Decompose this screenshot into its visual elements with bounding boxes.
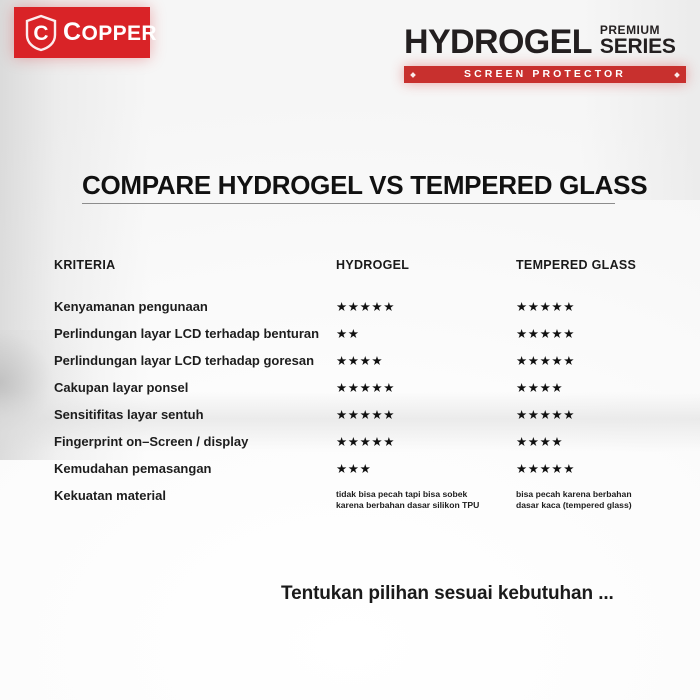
table-row: Perlindungan layar LCD terhadap benturan… — [54, 327, 674, 354]
screen-protector-bar: SCREEN PROTECTOR — [404, 66, 686, 83]
row-criteria-label: Perlindungan layar LCD terhadap benturan — [54, 327, 336, 341]
row-criteria-label: Kemudahan pemasangan — [54, 462, 336, 476]
row-criteria-label: Kekuatan material — [54, 489, 336, 503]
row-criteria-label: Sensitifitas layar sentuh — [54, 408, 336, 422]
brand-series-text: SERIES — [600, 36, 676, 57]
poster-canvas: C COPPER HYDROGEL PREMIUM SERIES SCREEN … — [0, 0, 700, 700]
row-hydrogel-rating: ★★★★★ — [336, 300, 516, 314]
comparison-table: KRITERIA HYDROGEL TEMPERED GLASS Kenyama… — [54, 258, 674, 511]
screen-protector-text: SCREEN PROTECTOR — [464, 69, 626, 80]
logo-wordmark-rest: OPPER — [81, 22, 157, 45]
logo-wordmark-initial: C — [63, 18, 81, 46]
material-note-line: tidak bisa pecah tapi bisa sobek — [336, 489, 516, 500]
row-criteria-label: Perlindungan layar LCD terhadap goresan — [54, 354, 336, 368]
table-row: Sensitifitas layar sentuh ★★★★★ ★★★★★ — [54, 408, 674, 435]
diamond-dot-right-icon — [674, 72, 680, 78]
table-body: Kenyamanan pengunaan ★★★★★ ★★★★★ Perlind… — [54, 300, 674, 511]
shield-icon: C — [24, 14, 58, 52]
page-title: COMPARE HYDROGEL VS TEMPERED GLASS — [82, 170, 618, 201]
logo-wordmark: COPPER — [63, 20, 157, 45]
row-criteria-label: Kenyamanan pengunaan — [54, 300, 336, 314]
header-tempered-glass: TEMPERED GLASS — [516, 258, 674, 272]
row-tempered-rating: ★★★★★ — [516, 354, 674, 368]
hydrogel-banner: HYDROGEL PREMIUM SERIES SCREEN PROTECTOR — [404, 14, 686, 90]
table-row-material: Kekuatan material tidak bisa pecah tapi … — [54, 489, 674, 511]
row-tempered-rating: ★★★★★ — [516, 300, 674, 314]
row-tempered-material-note: bisa pecah karena berbahan dasar kaca (t… — [516, 489, 674, 511]
row-hydrogel-rating: ★★★★★ — [336, 408, 516, 422]
row-tempered-rating: ★★★★★ — [516, 408, 674, 422]
table-row: Cakupan layar ponsel ★★★★★ ★★★★ — [54, 381, 674, 408]
brand-series-block: PREMIUM SERIES — [600, 24, 676, 58]
row-hydrogel-rating: ★★★★★ — [336, 381, 516, 395]
header-criteria: KRITERIA — [54, 258, 336, 272]
row-hydrogel-rating: ★★★ — [336, 462, 516, 476]
footer-tagline: Tentukan pilihan sesuai kebutuhan ... — [281, 583, 614, 605]
copper-logo: C COPPER — [14, 7, 150, 58]
table-header-row: KRITERIA HYDROGEL TEMPERED GLASS — [54, 258, 674, 272]
row-hydrogel-material-note: tidak bisa pecah tapi bisa sobek karena … — [336, 489, 516, 511]
row-tempered-rating: ★★★★ — [516, 381, 674, 395]
table-row: Fingerprint on–Screen / display ★★★★★ ★★… — [54, 435, 674, 462]
header-hydrogel: HYDROGEL — [336, 258, 516, 272]
table-row: Kemudahan pemasangan ★★★ ★★★★★ — [54, 462, 674, 489]
row-criteria-label: Cakupan layar ponsel — [54, 381, 336, 395]
row-tempered-rating: ★★★★★ — [516, 462, 674, 476]
brand-hydrogel-text: HYDROGEL — [404, 26, 592, 58]
material-note-line: karena berbahan dasar silikon TPU — [336, 500, 516, 511]
row-hydrogel-rating: ★★ — [336, 327, 516, 341]
material-note-line: bisa pecah karena berbahan — [516, 489, 674, 500]
row-hydrogel-rating: ★★★★★ — [336, 435, 516, 449]
row-hydrogel-rating: ★★★★ — [336, 354, 516, 368]
svg-text:C: C — [33, 22, 48, 45]
row-criteria-label: Fingerprint on–Screen / display — [54, 435, 336, 449]
row-tempered-rating: ★★★★ — [516, 435, 674, 449]
table-row: Perlindungan layar LCD terhadap goresan … — [54, 354, 674, 381]
banner-top-row: HYDROGEL PREMIUM SERIES — [404, 14, 686, 58]
diamond-dot-left-icon — [410, 72, 416, 78]
table-row: Kenyamanan pengunaan ★★★★★ ★★★★★ — [54, 300, 674, 327]
title-underline — [82, 203, 615, 204]
material-note-line: dasar kaca (tempered glass) — [516, 500, 674, 511]
row-tempered-rating: ★★★★★ — [516, 327, 674, 341]
